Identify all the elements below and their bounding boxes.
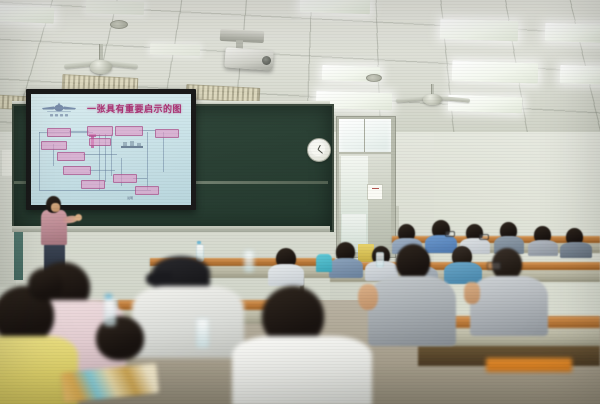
hand xyxy=(358,284,378,310)
cap-brim xyxy=(146,272,172,286)
diagram-node xyxy=(115,126,143,136)
projection-screen: 一张具有重要启示的图 xyxy=(26,89,196,210)
presenter-face xyxy=(51,203,60,212)
light-panel xyxy=(86,0,144,15)
diagram-node xyxy=(63,166,91,175)
diagram-node xyxy=(81,180,105,189)
air-vent xyxy=(366,74,382,82)
air-vent xyxy=(110,20,128,29)
slide-surface: 一张具有重要启示的图 xyxy=(31,94,191,205)
clock-face xyxy=(311,142,325,156)
wall-clock xyxy=(307,138,331,162)
teal-shirt xyxy=(316,254,332,272)
hand xyxy=(464,282,480,304)
transom-mullion xyxy=(364,119,365,152)
transom-window xyxy=(339,119,391,152)
diagram-caption: 说明 xyxy=(127,196,133,200)
slide-diagram: 图 1 说明 xyxy=(35,124,187,202)
light-panel xyxy=(452,61,539,84)
diagram-node xyxy=(155,129,179,138)
diagram-node xyxy=(89,138,111,146)
diagram-node xyxy=(113,174,137,183)
light-panel xyxy=(560,65,600,85)
light-panel xyxy=(150,43,200,56)
diagram-node xyxy=(57,152,85,161)
presenter-torso xyxy=(41,210,67,245)
diagram-node xyxy=(47,128,71,137)
light-panel xyxy=(545,23,600,43)
light-panel xyxy=(0,4,54,23)
diagram-node xyxy=(41,141,67,150)
presenter-hand xyxy=(75,214,82,221)
diagram-node xyxy=(87,126,113,136)
slide-title: 一张具有重要启示的图 xyxy=(87,102,182,115)
light-panel xyxy=(300,0,371,14)
light-panel xyxy=(440,19,519,42)
diagram-node xyxy=(135,186,159,195)
notebook xyxy=(486,358,572,372)
door-notice-sign xyxy=(367,184,383,200)
classroom-photo: 一张具有重要启示的图 xyxy=(0,0,600,404)
university-emblem-icon xyxy=(39,100,79,122)
